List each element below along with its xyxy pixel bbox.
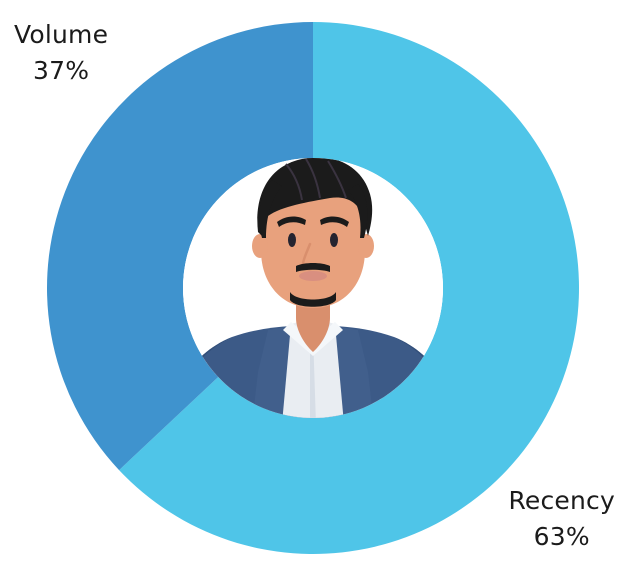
donut-chart: Volume 37% Recency 63%	[0, 0, 627, 580]
label-volume: Volume 37%	[14, 19, 108, 87]
label-recency: Recency 63%	[508, 485, 615, 553]
avatar-eye-right	[330, 233, 338, 247]
label-volume-name: Volume	[14, 19, 108, 51]
avatar-eye-left	[288, 233, 296, 247]
label-recency-value: 63%	[508, 521, 615, 553]
label-volume-value: 37%	[14, 55, 108, 87]
label-recency-name: Recency	[508, 485, 615, 517]
avatar-lips	[299, 271, 327, 281]
